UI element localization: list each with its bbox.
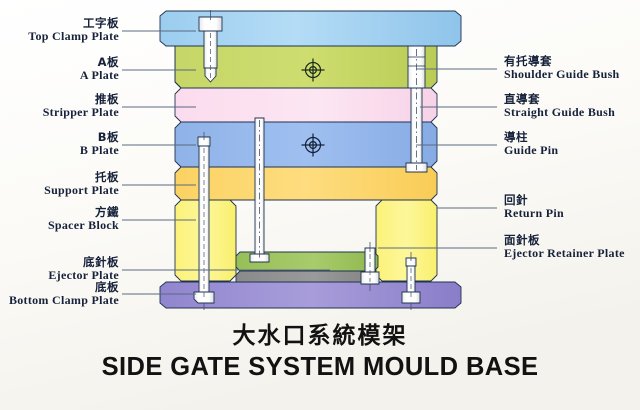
label-b-plate: B板 B Plate	[0, 131, 119, 157]
label-bottom-clamp-plate-cn: 底板	[0, 281, 119, 294]
diagram-title: 大水口系統模架 SIDE GATE SYSTEM MOULD BASE	[0, 316, 640, 382]
label-a-plate-cn: A板	[0, 56, 119, 69]
label-ejector-plate: 底針板 Ejector Plate	[0, 256, 119, 282]
label-straight-guide-bush-cn: 直導套	[504, 93, 640, 106]
label-stripper-plate-cn: 推板	[0, 93, 119, 106]
label-support-plate-en: Support Plate	[0, 184, 119, 197]
label-guide-pin: 導柱 Guide Pin	[504, 131, 640, 157]
plate-spacer-block-right	[376, 200, 437, 281]
label-ejector-retainer-plate: 面針板 Ejector Retainer Plate	[504, 234, 640, 260]
label-a-plate-en: A Plate	[0, 69, 119, 82]
label-ejector-retainer-plate-en: Ejector Retainer Plate	[504, 247, 640, 260]
label-straight-guide-bush: 直導套 Straight Guide Bush	[504, 93, 640, 119]
label-spacer-block-en: Spacer Block	[0, 219, 119, 232]
label-return-pin-en: Return Pin	[504, 207, 640, 220]
label-top-clamp-plate-cn: 工字板	[0, 17, 119, 30]
label-stripper-plate: 推板 Stripper Plate	[0, 93, 119, 119]
label-stripper-plate-en: Stripper Plate	[0, 106, 119, 119]
plate-support-plate	[175, 167, 437, 200]
label-top-clamp-plate: 工字板 Top Clamp Plate	[0, 17, 119, 43]
label-b-plate-cn: B板	[0, 131, 119, 144]
label-top-clamp-plate-en: Top Clamp Plate	[0, 30, 119, 43]
label-support-plate-cn: 托板	[0, 171, 119, 184]
label-straight-guide-bush-en: Straight Guide Bush	[504, 106, 640, 119]
label-ejector-plate-cn: 底針板	[0, 256, 119, 269]
label-a-plate: A板 A Plate	[0, 56, 119, 82]
label-shoulder-guide-bush-cn: 有托導套	[504, 55, 640, 68]
label-guide-pin-en: Guide Pin	[504, 144, 640, 157]
label-return-pin: 回針 Return Pin	[504, 194, 640, 220]
label-b-plate-en: B Plate	[0, 144, 119, 157]
label-bottom-clamp-plate: 底板 Bottom Clamp Plate	[0, 281, 119, 307]
label-support-plate: 托板 Support Plate	[0, 171, 119, 197]
label-shoulder-guide-bush: 有托導套 Shoulder Guide Bush	[504, 55, 640, 81]
label-guide-pin-cn: 導柱	[504, 131, 640, 144]
label-bottom-clamp-plate-en: Bottom Clamp Plate	[0, 294, 119, 307]
diagram-title-en: SIDE GATE SYSTEM MOULD BASE	[0, 353, 640, 382]
label-return-pin-cn: 回針	[504, 194, 640, 207]
label-spacer-block-cn: 方鐵	[0, 206, 119, 219]
label-spacer-block: 方鐵 Spacer Block	[0, 206, 119, 232]
plate-stripper-plate	[175, 88, 437, 122]
label-shoulder-guide-bush-en: Shoulder Guide Bush	[504, 68, 640, 81]
label-ejector-retainer-plate-cn: 面針板	[504, 234, 640, 247]
diagram-title-cn: 大水口系統模架	[0, 316, 640, 350]
